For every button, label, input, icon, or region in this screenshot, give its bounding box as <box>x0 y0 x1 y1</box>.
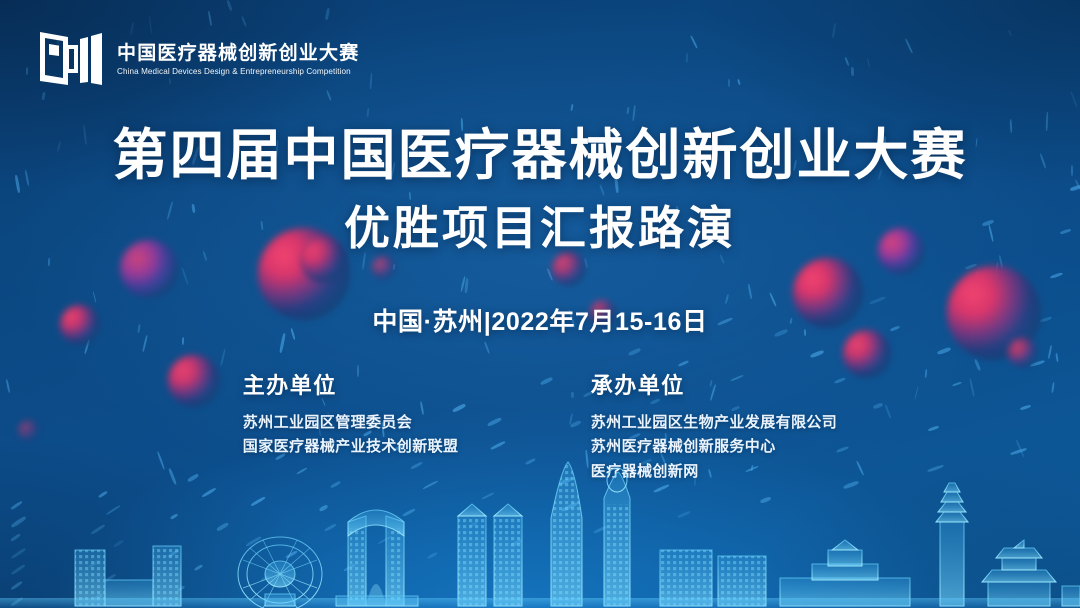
background-streak <box>547 268 554 281</box>
background-streak <box>571 104 574 111</box>
background-streak <box>41 92 45 101</box>
background-streak <box>690 36 698 49</box>
background-streak <box>810 350 824 359</box>
background-streak <box>737 79 741 86</box>
background-streak <box>632 105 636 121</box>
title-line-2: 优胜项目汇报路演 <box>0 205 1080 251</box>
background-streak <box>220 349 225 366</box>
background-streak <box>1030 360 1045 367</box>
background-streak <box>728 79 730 87</box>
background-streak <box>48 258 50 266</box>
suzhou-city-skyline-silhouette <box>0 458 1080 608</box>
background-streak <box>367 108 369 117</box>
background-streak <box>181 267 189 285</box>
background-streak <box>627 107 630 114</box>
background-streak <box>976 271 983 285</box>
background-streak <box>584 258 588 268</box>
background-streak <box>460 276 466 292</box>
background-streak <box>465 278 469 294</box>
logo-english-name: China Medical Devices Design & Entrepren… <box>117 67 352 76</box>
background-streak <box>937 347 951 355</box>
bokeh-sphere <box>372 256 396 280</box>
background-streak <box>325 8 330 20</box>
background-streak <box>905 39 913 54</box>
background-streak <box>832 23 836 38</box>
background-streak <box>628 348 641 357</box>
background-streak <box>207 11 211 26</box>
open-door-window-logo-mark <box>38 28 104 90</box>
organizer-entry: 苏州工业园区管理委员会 <box>243 411 473 435</box>
poster-title: 第四届中国医疗器械创新创业大赛 优胜项目汇报路演 <box>0 128 1080 251</box>
background-streak <box>998 255 1003 270</box>
skyline-ground-line <box>0 598 1080 608</box>
background-streak <box>1055 353 1058 362</box>
background-streak <box>851 67 854 76</box>
date-location-line: 中国·苏州|2022年7月15-16日 <box>0 302 1080 338</box>
bokeh-sphere <box>1008 338 1038 368</box>
organizer-heading: 主办单位 <box>243 368 473 400</box>
background-streak <box>685 53 688 63</box>
background-streak <box>241 16 247 27</box>
background-streak <box>867 58 871 68</box>
background-streak <box>392 264 395 270</box>
background-streak <box>484 341 491 354</box>
background-streak <box>84 340 90 355</box>
logo-text-block: 中国医疗器械创新创业大赛 China Medical Devices Desig… <box>117 41 359 76</box>
competition-logo: 中国医疗器械创新创业大赛 China Medical Devices Desig… <box>38 28 359 90</box>
organizer-entry: 苏州工业园区生物产业发展有限公司 <box>591 411 837 435</box>
background-streak <box>964 263 976 270</box>
logo-chinese-name: 中国医疗器械创新创业大赛 <box>117 44 359 64</box>
background-streak <box>1008 30 1012 36</box>
background-streak <box>370 73 373 89</box>
background-streak <box>1048 345 1053 359</box>
background-streak <box>1050 272 1063 279</box>
background-streak <box>1070 91 1078 108</box>
title-line-1: 第四届中国医疗器械创新创业大赛 <box>0 128 1080 183</box>
background-streak <box>805 286 816 293</box>
background-streak <box>678 360 689 367</box>
event-poster: 中国医疗器械创新创业大赛 China Medical Devices Desig… <box>0 0 1080 608</box>
skyline-svg <box>0 458 1080 608</box>
organizer-heading: 承办单位 <box>591 368 837 400</box>
background-streak <box>203 251 208 261</box>
background-streak <box>995 262 998 282</box>
background-streak <box>226 0 232 12</box>
background-streak <box>844 57 849 66</box>
background-streak <box>893 253 907 260</box>
background-streak <box>362 252 367 270</box>
background-streak <box>182 337 185 345</box>
background-streak <box>748 284 752 299</box>
background-streak <box>720 254 726 264</box>
bokeh-sphere <box>552 252 586 286</box>
background-streak <box>93 291 97 303</box>
background-streak <box>326 90 332 101</box>
organizer-entry: 苏州医疗器械创新服务中心 <box>591 435 837 459</box>
background-streak <box>26 67 29 75</box>
organizer-entry: 国家医疗器械产业技术创新联盟 <box>243 435 473 459</box>
